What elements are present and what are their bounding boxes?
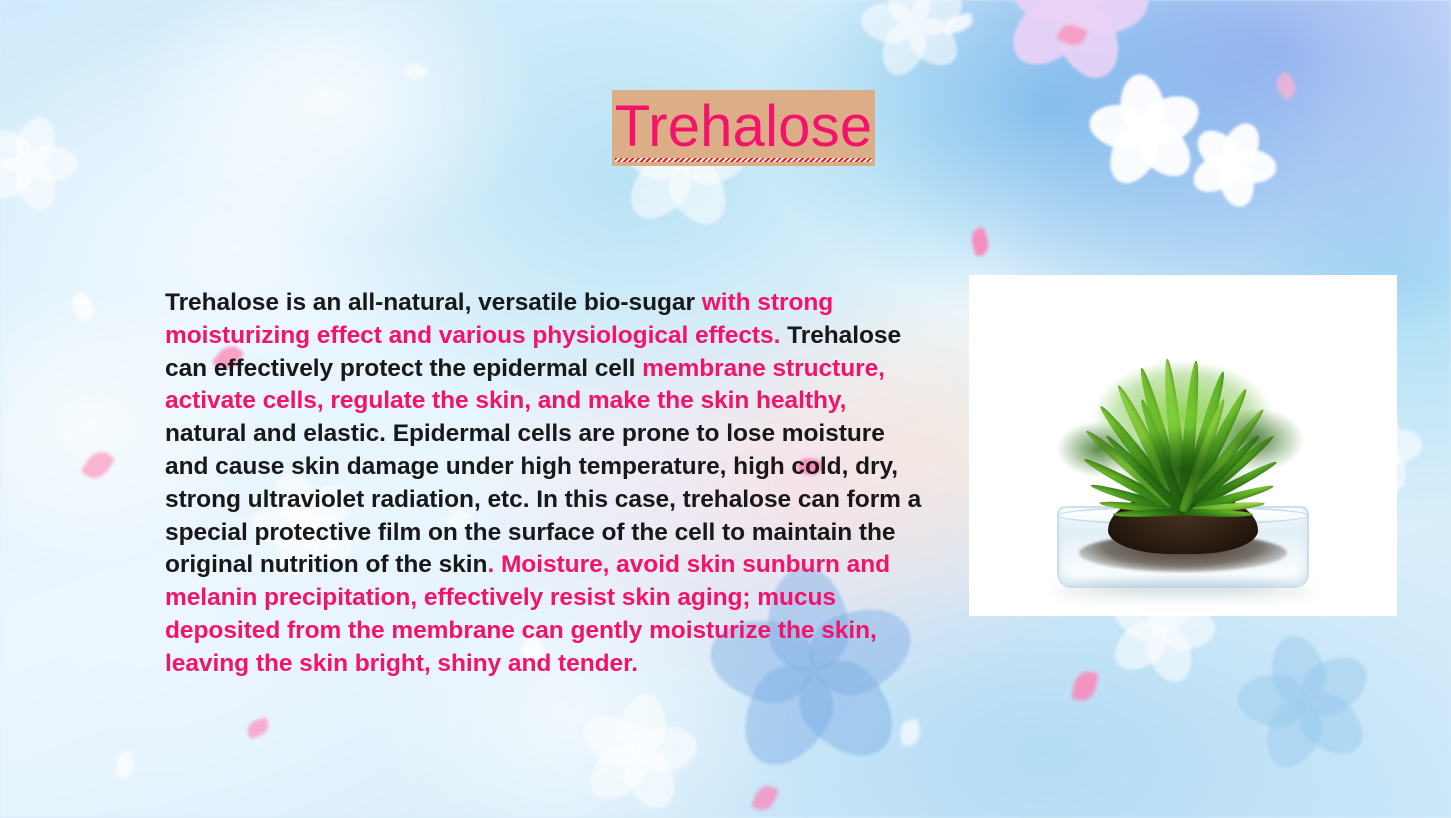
plant-photo bbox=[969, 275, 1397, 616]
plant-photo-inner bbox=[969, 275, 1397, 616]
slide: Trehalose Trehalose is an all-natural, v… bbox=[0, 0, 1451, 818]
page-title: Trehalose bbox=[615, 98, 873, 158]
cherry-blossom-icon bbox=[1094, 79, 1198, 183]
body-segment-0: Trehalose is an all-natural, versatile b… bbox=[165, 289, 702, 316]
body-paragraph: Trehalose is an all-natural, versatile b… bbox=[165, 287, 925, 681]
cherry-blossom-icon bbox=[583, 697, 694, 808]
title-highlight-box: Trehalose bbox=[612, 90, 875, 166]
plant-foliage bbox=[1033, 362, 1333, 512]
